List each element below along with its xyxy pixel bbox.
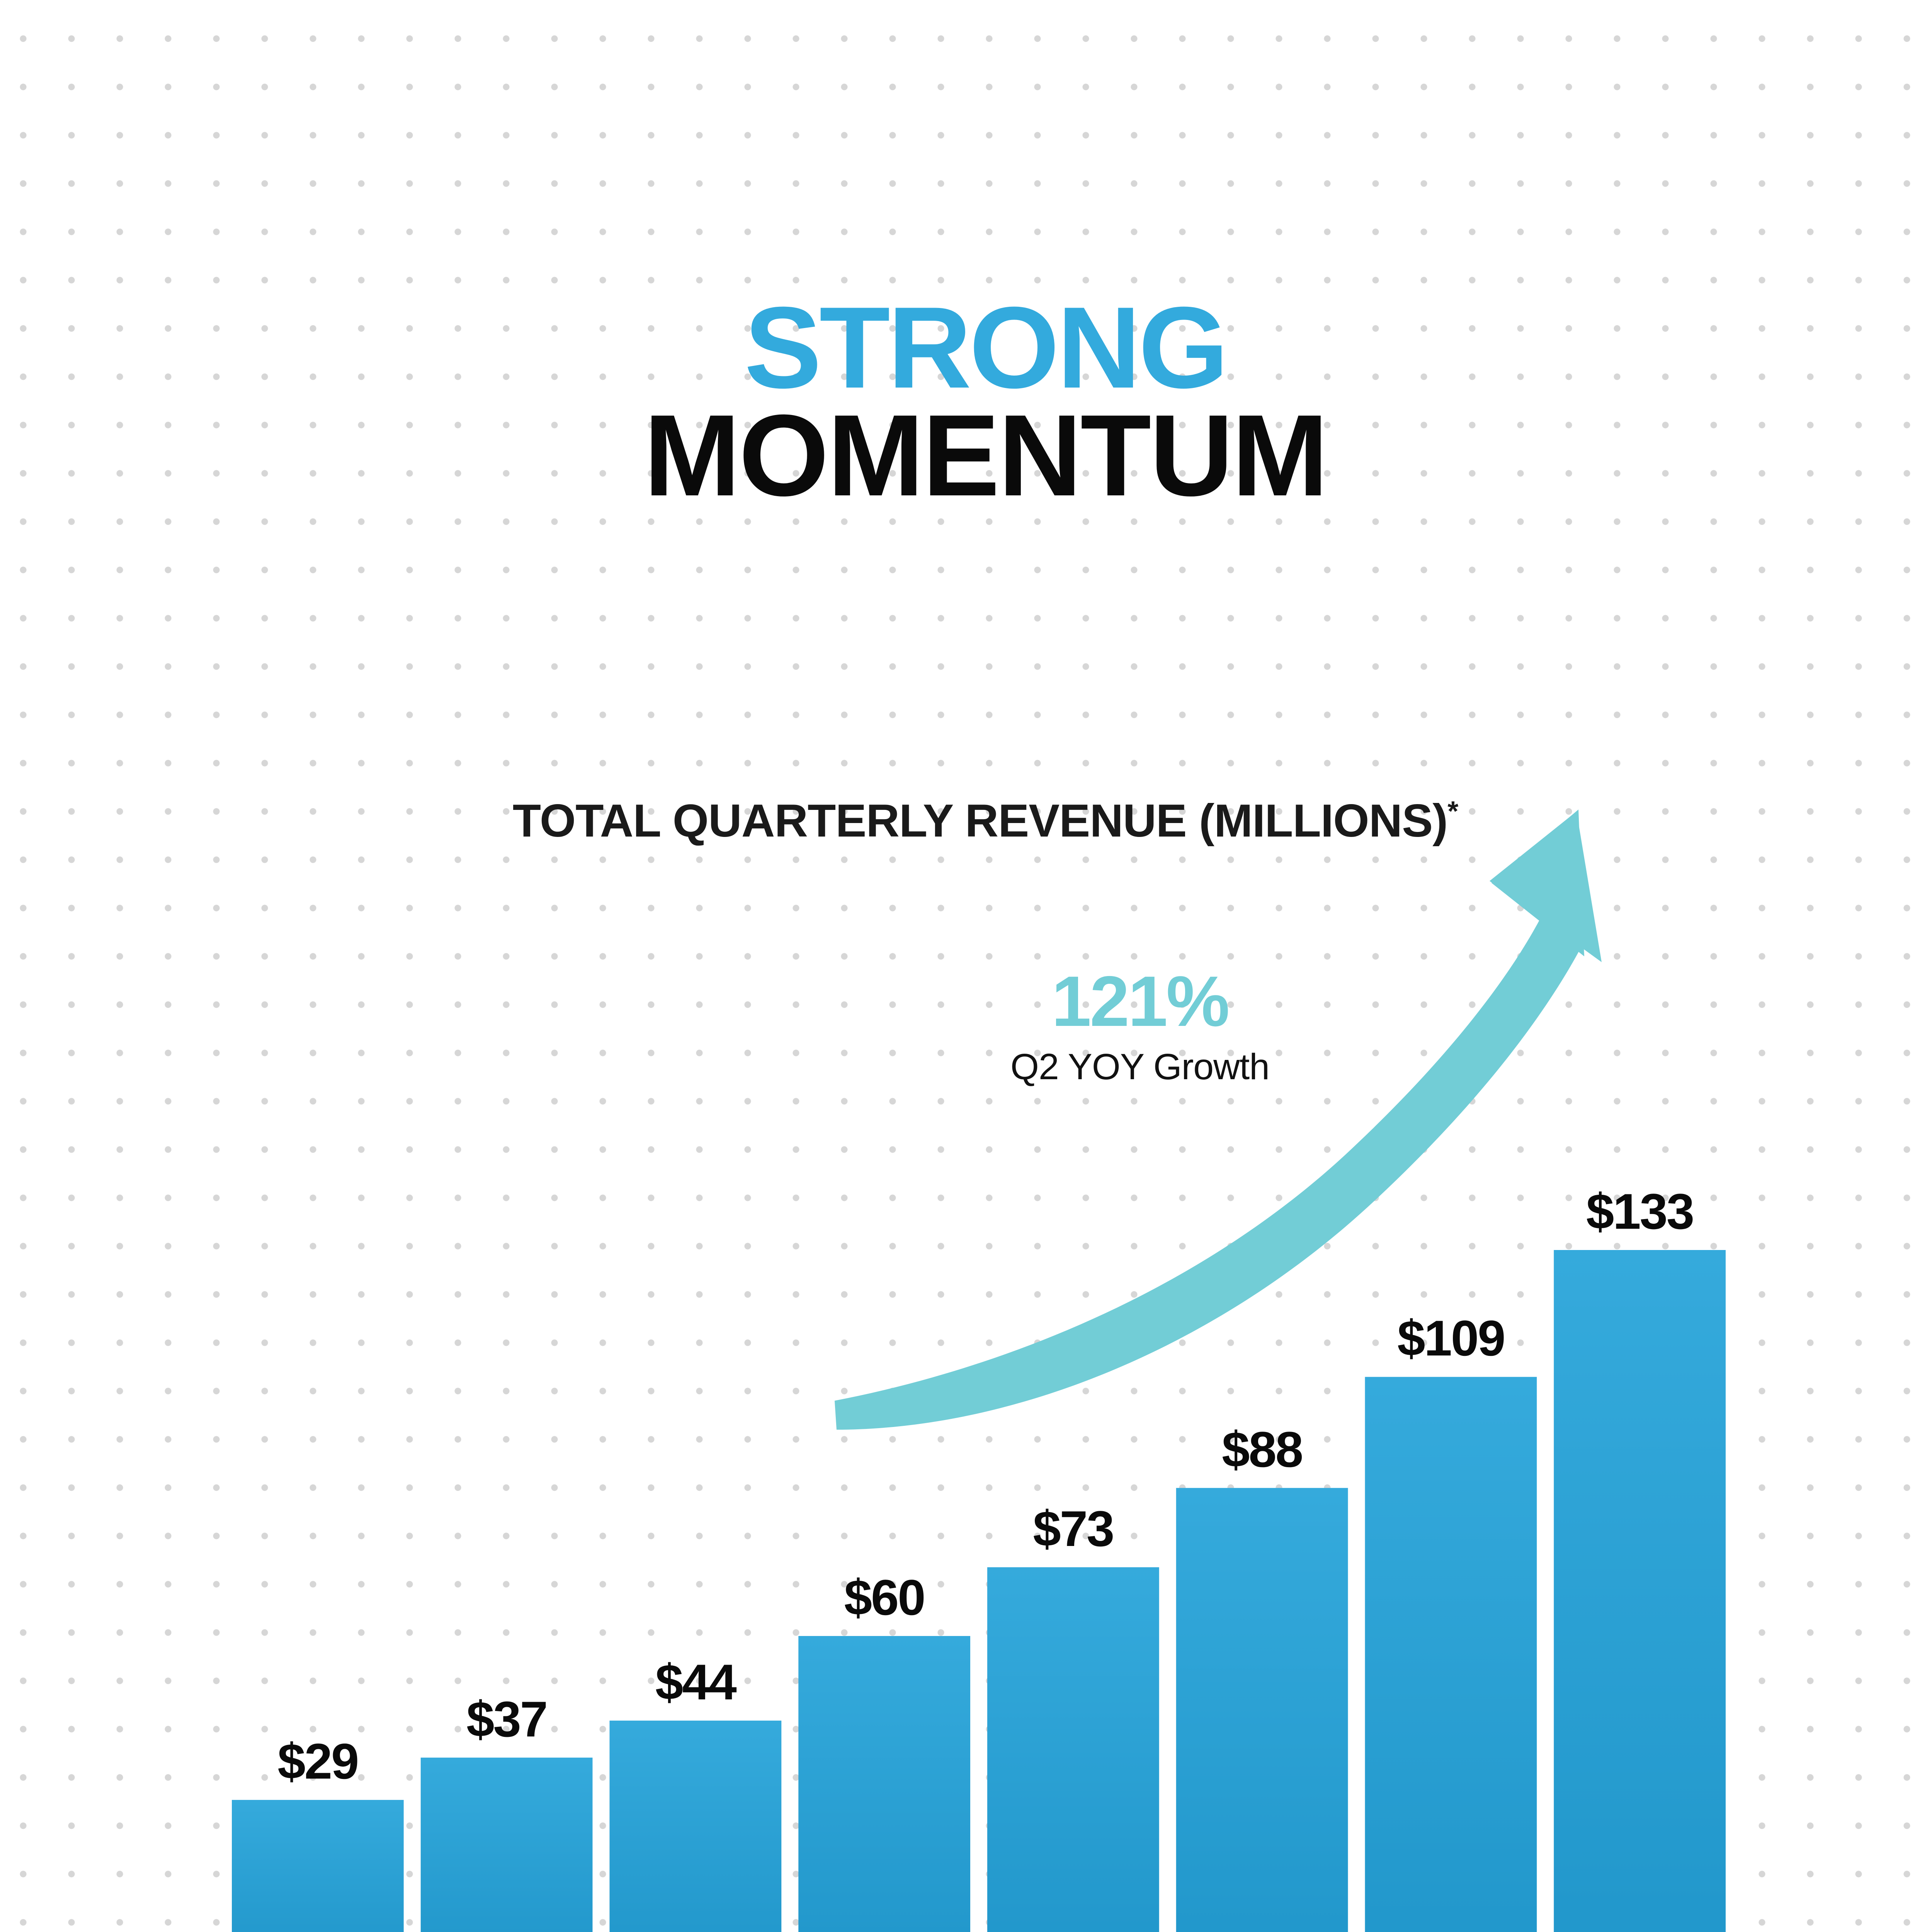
growth-callout: 121% Q2 YOY Growth: [935, 966, 1345, 1088]
bar-q3-20: [987, 1567, 1159, 1932]
bar-value-label: $73: [1033, 1500, 1113, 1558]
bar-q4-19: [421, 1758, 593, 1932]
bar-q1-21: [1365, 1377, 1537, 1932]
bar-q3-19: [232, 1800, 404, 1932]
bar-q1-20: [610, 1721, 782, 1932]
bar-value-label: $60: [844, 1568, 925, 1626]
bar-q2-21: [1554, 1250, 1726, 1932]
growth-percent-value: 121%: [935, 966, 1345, 1037]
bar-value-label: $133: [1586, 1182, 1693, 1240]
bar-q4-20: [1176, 1488, 1348, 1932]
revenue-bar-chart: 121% Q2 YOY Growth $29Q3 19$37Q4 19$44Q1…: [0, 0, 1932, 1932]
growth-callout-label: Q2 YOY Growth: [935, 1046, 1345, 1088]
bar-value-label: $109: [1397, 1309, 1504, 1367]
infographic-page: STRONG MOMENTUM TOTAL QUARTERLY REVENUE …: [0, 0, 1932, 1932]
bar-value-label: $29: [277, 1732, 358, 1790]
bar-value-label: $37: [466, 1690, 547, 1748]
bar-q2-20: [798, 1636, 970, 1932]
bar-value-label: $44: [655, 1653, 736, 1711]
bar-value-label: $88: [1222, 1420, 1302, 1478]
